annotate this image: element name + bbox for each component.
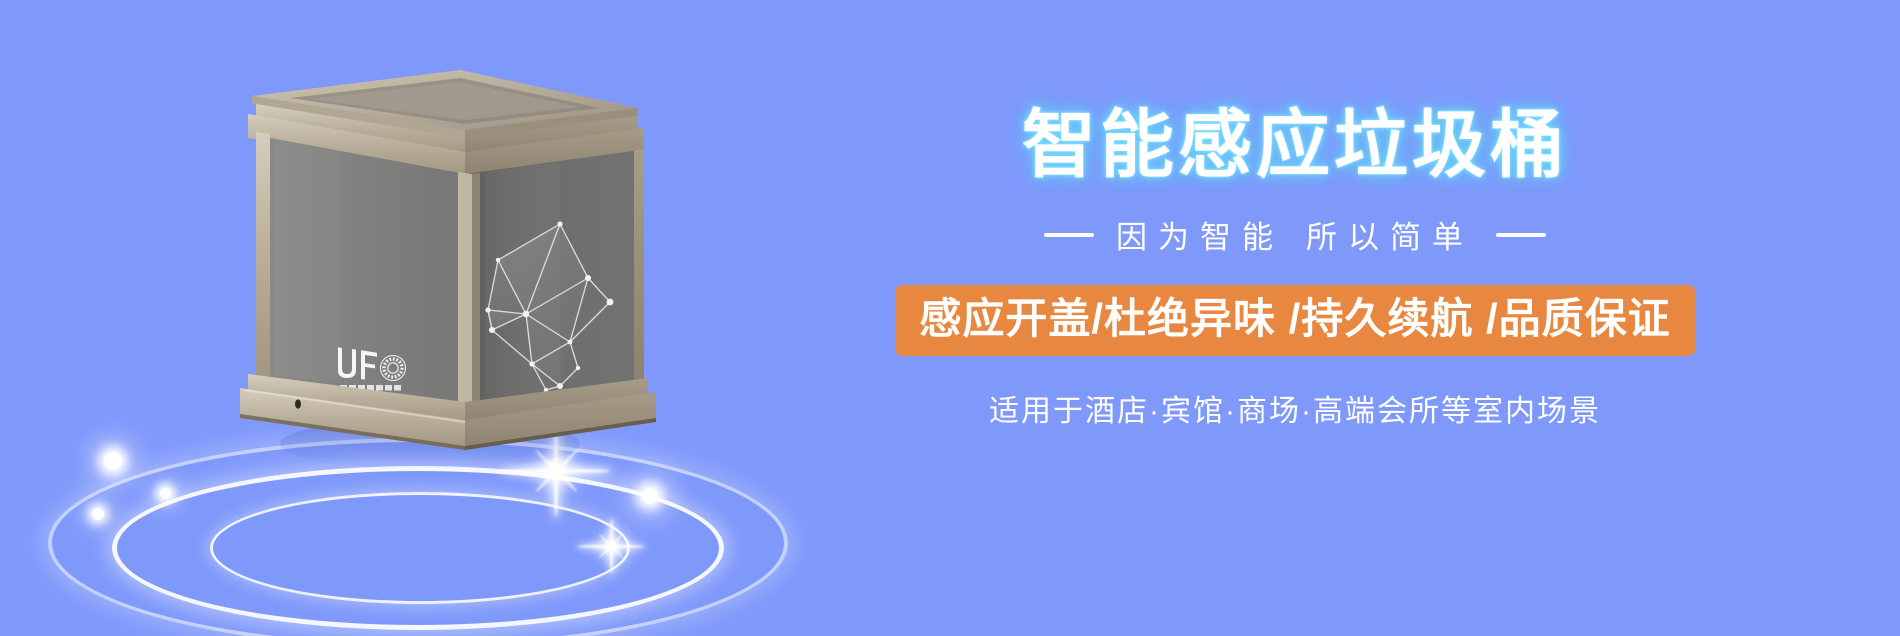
ripple-ring-middle bbox=[112, 466, 724, 630]
product-image-trash-bin bbox=[230, 52, 660, 472]
feature-badge-label: 感应开盖/杜绝异味 /持久续航 /品质保证 bbox=[919, 295, 1670, 342]
sparkle-star-icon bbox=[610, 545, 612, 547]
glow-dot-icon bbox=[642, 488, 658, 504]
tagline-text: 因为智能所以简单 bbox=[1116, 212, 1474, 257]
page-title: 智能感应垃圾桶 bbox=[880, 108, 1710, 182]
banner-copy: 智能感应垃圾桶 因为智能所以简单 感应开盖/杜绝异味 /持久续航 /品质保证 适… bbox=[880, 108, 1710, 430]
tagline-rule-left bbox=[1044, 233, 1094, 237]
ripple-ring-inner bbox=[210, 492, 630, 604]
usage-scenarios-text: 适用于酒店·宾馆·商场·高端会所等室内场景 bbox=[880, 386, 1710, 430]
tagline-row: 因为智能所以简单 bbox=[880, 212, 1710, 257]
glow-dot-icon bbox=[104, 452, 122, 470]
tagline-rule-right bbox=[1496, 233, 1546, 237]
glow-dot-icon bbox=[92, 508, 104, 520]
tagline-part-1: 因为智能 bbox=[1116, 220, 1284, 255]
feature-badge: 感应开盖/杜绝异味 /持久续航 /品质保证 bbox=[895, 285, 1694, 356]
glow-dot-icon bbox=[160, 488, 171, 499]
promo-banner: 智能感应垃圾桶 因为智能所以简单 感应开盖/杜绝异味 /持久续航 /品质保证 适… bbox=[0, 0, 1900, 636]
tagline-part-2: 所以简单 bbox=[1306, 220, 1474, 255]
